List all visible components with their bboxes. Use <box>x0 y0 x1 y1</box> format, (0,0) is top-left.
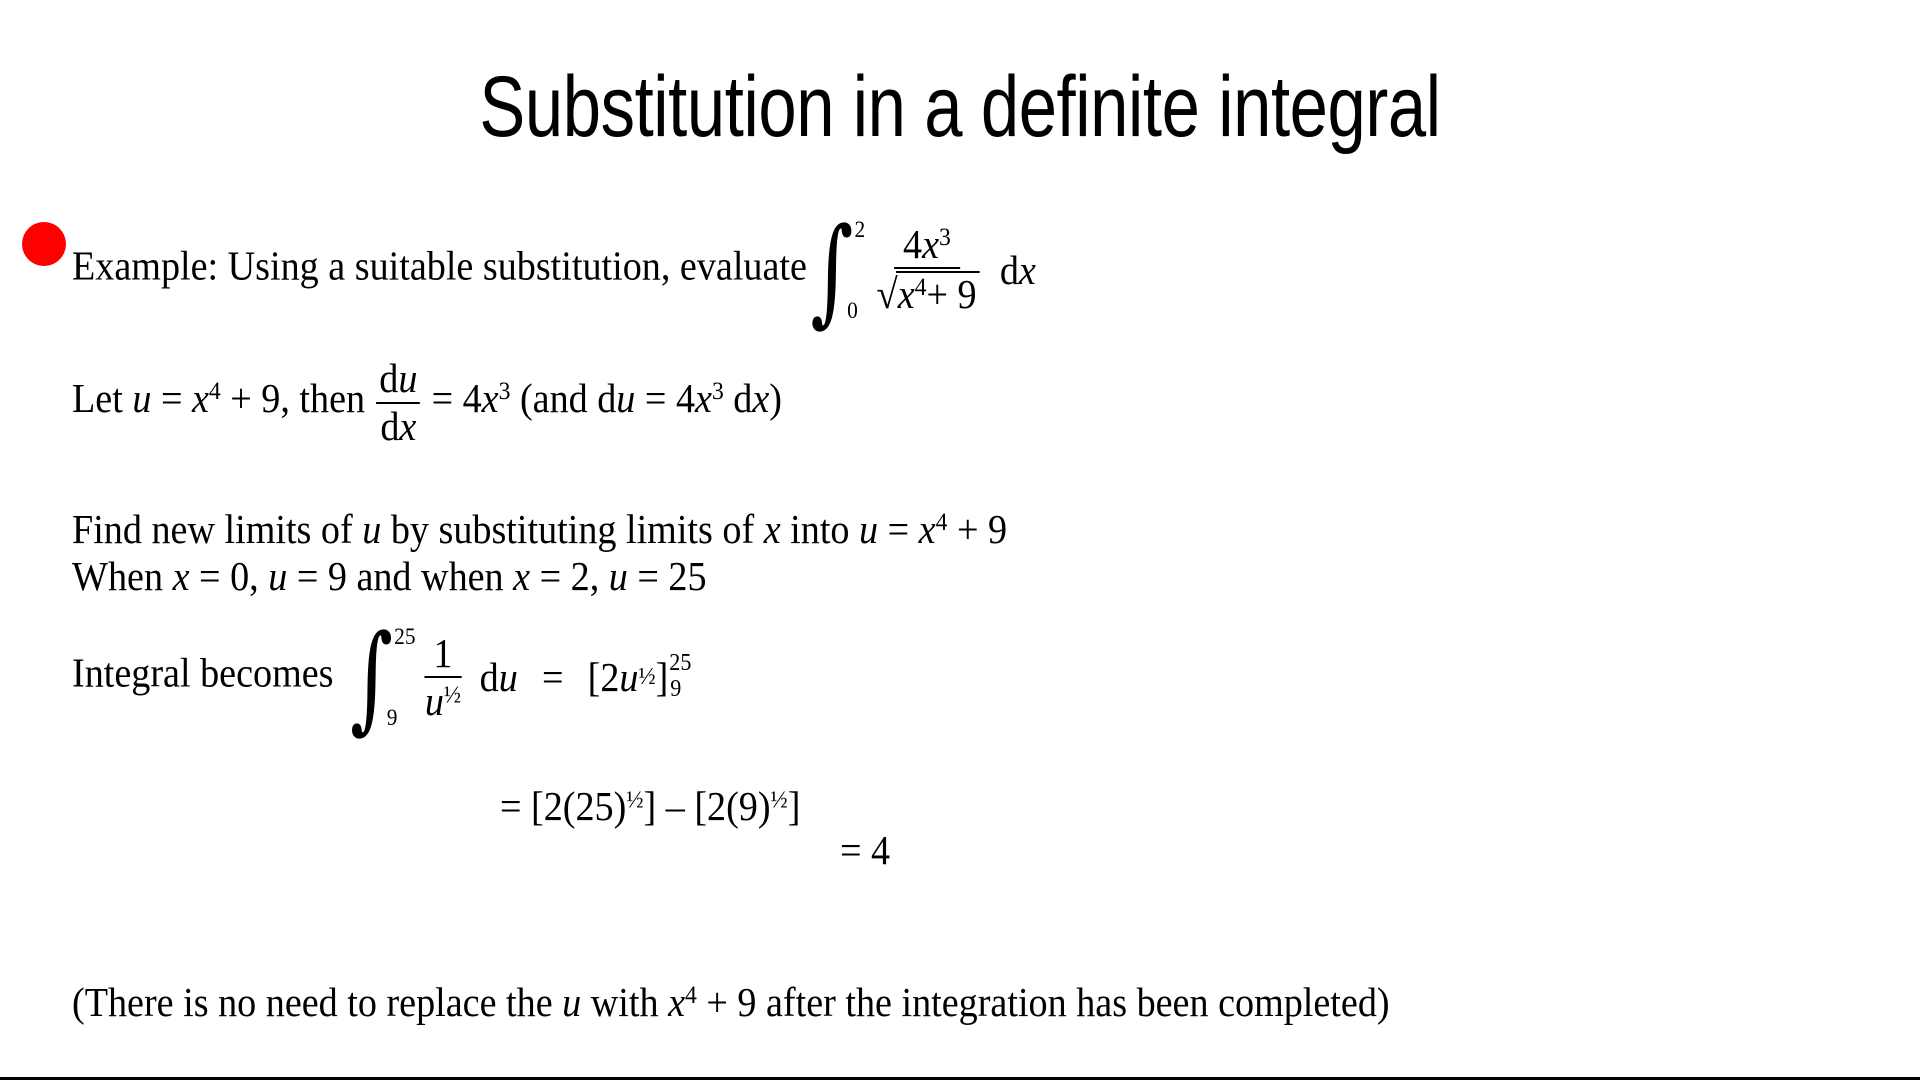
transformed-upper-limit: 25 <box>394 625 415 648</box>
numerator-exponent: 3 <box>939 223 951 251</box>
slide-canvas: Substitution in a definite integral Exam… <box>0 0 1920 1080</box>
when-x2: x <box>513 553 530 599</box>
find-equals: = <box>878 506 919 552</box>
evaluation-exponent-2: ½ <box>771 787 788 814</box>
integrand-fraction: 4x3√x4+ 9 <box>867 223 987 317</box>
let-u: u <box>132 375 151 421</box>
note-x-exponent: 4 <box>685 981 697 1009</box>
when-eq-4: = 25 <box>628 553 707 599</box>
bracket-close: ] <box>656 653 669 701</box>
bracket-lower-limit: 9 <box>670 678 691 702</box>
find-x2: x <box>919 506 936 552</box>
derivative-num-u: u <box>398 355 417 401</box>
radicand-constant: + 9 <box>926 271 976 317</box>
transformed-denominator-exponent: ½ <box>444 681 461 708</box>
let-plus-nine: + 9, then <box>221 375 375 421</box>
when-limits-line: When x = 0, u = 9 and when x = 2, u = 25 <box>72 552 707 600</box>
integrand-numerator: 4x3 <box>894 223 960 269</box>
differential-d: d <box>1000 246 1019 294</box>
evaluation-middle: ] – [2(9) <box>643 783 770 829</box>
evaluation-exponent-1: ½ <box>626 787 643 814</box>
integrand-denominator: √x4+ 9 <box>867 269 987 317</box>
tail-x: x <box>695 375 712 421</box>
derivative-den-d: d <box>380 403 399 449</box>
transformed-integral-expression: ∫2591u½du=[2u½]259 <box>347 625 692 729</box>
example-line: Example: Using a suitable substitution, … <box>72 218 1036 322</box>
bracket-coefficient: 2 <box>600 653 619 701</box>
substitution-line: Let u = x4 + 9, then dudx = 4x3 (and du … <box>72 358 782 448</box>
differential-variable: x <box>1019 246 1036 294</box>
radical-symbol-icon: √ <box>876 272 897 318</box>
evaluation-lhs: = [2(25) <box>500 783 626 829</box>
tail-close: ) <box>769 375 782 421</box>
derivative-denominator: dx <box>378 404 420 448</box>
radicand-exponent: 4 <box>915 272 927 300</box>
tail-equals: = 4 <box>635 375 695 421</box>
find-x-exponent: 4 <box>936 508 948 536</box>
derivative-fraction: dudx <box>376 358 420 448</box>
transformed-denominator: u½ <box>417 678 468 723</box>
final-answer-line: = 4 <box>840 826 890 874</box>
note-x: x <box>668 979 685 1025</box>
when-eq-1: = 0, <box>190 553 269 599</box>
result-equals-sign: = <box>542 653 564 701</box>
let-prefix: Let <box>72 375 132 421</box>
example-lead-text: Example: Using a suitable substitution, … <box>72 242 807 288</box>
square-root: √x4+ 9 <box>875 271 980 317</box>
radicand-variable: x <box>898 271 915 317</box>
find-text-2: by substituting limits of <box>381 506 763 552</box>
derivative-den-x: x <box>399 403 416 449</box>
numerator-coefficient: 4 <box>903 221 922 267</box>
find-text-3: into <box>781 506 859 552</box>
when-text-1: When <box>72 553 173 599</box>
evaluation-line: = [2(25)½] – [2(9)½] <box>500 782 800 830</box>
note-u: u <box>562 979 581 1025</box>
tail-x2: x <box>752 375 769 421</box>
when-eq-2: = 9 and when <box>287 553 513 599</box>
let-x: x <box>192 375 209 421</box>
antiderivative-bracket: [2u½]259 <box>588 652 692 702</box>
transformed-differential-d: d <box>480 653 499 701</box>
find-limits-line: Find new limits of u by substituting lim… <box>72 505 1007 553</box>
transformed-numerator: 1 <box>424 632 462 678</box>
derivative-rhs-exponent: 3 <box>499 377 511 405</box>
integral-becomes-label: Integral becomes <box>72 649 334 695</box>
bracket-limits: 259 <box>669 652 691 702</box>
tail-dx: d <box>724 375 753 421</box>
find-u: u <box>362 506 381 552</box>
derivative-num-d: d <box>379 355 398 401</box>
note-line: (There is no need to replace the u with … <box>72 978 1390 1026</box>
when-u: u <box>268 553 287 599</box>
bracket-upper-limit: 25 <box>669 652 691 676</box>
let-equals: = <box>151 375 192 421</box>
find-text-1: Find new limits of <box>72 506 362 552</box>
derivative-equals-value: = 4 <box>422 375 482 421</box>
note-text-2: with <box>581 979 668 1025</box>
find-tail: + 9 <box>947 506 1007 552</box>
bullet-dot-icon <box>22 222 66 266</box>
integral-sign-icon: ∫ <box>811 228 854 312</box>
integral-becomes-line: Integral becomes∫2591u½du=[2u½]259 <box>72 625 691 729</box>
bracket-open: [ <box>588 653 601 701</box>
tail-u: u <box>616 375 635 421</box>
integral-upper-limit: 2 <box>855 218 866 241</box>
note-text-1: (There is no need to replace the <box>72 979 562 1025</box>
when-x: x <box>173 553 190 599</box>
find-x: x <box>764 506 781 552</box>
when-u2: u <box>609 553 628 599</box>
bracket-variable: u <box>619 653 638 701</box>
transformed-differential-variable: u <box>499 653 518 701</box>
integral-sign-icon-2: ∫ <box>350 635 393 719</box>
definite-integral-expression: ∫204x3√x4+ 9dx <box>807 218 1036 322</box>
evaluation-end: ] <box>788 783 801 829</box>
tail-exponent: 3 <box>712 377 724 405</box>
transformed-denominator-variable: u <box>425 678 444 724</box>
numerator-variable: x <box>922 221 939 267</box>
note-text-3: + 9 after the integration has been compl… <box>697 979 1390 1025</box>
radicand: x4+ 9 <box>896 271 979 316</box>
derivative-numerator: du <box>376 358 420 404</box>
transformed-integrand-fraction: 1u½ <box>417 632 468 722</box>
tail-open: (and d <box>510 375 616 421</box>
derivative-rhs-x: x <box>482 375 499 421</box>
let-x-exponent: 4 <box>209 377 221 405</box>
when-eq-3: = 2, <box>530 553 609 599</box>
page-title: Substitution in a definite integral <box>192 62 1728 152</box>
find-u2: u <box>859 506 878 552</box>
